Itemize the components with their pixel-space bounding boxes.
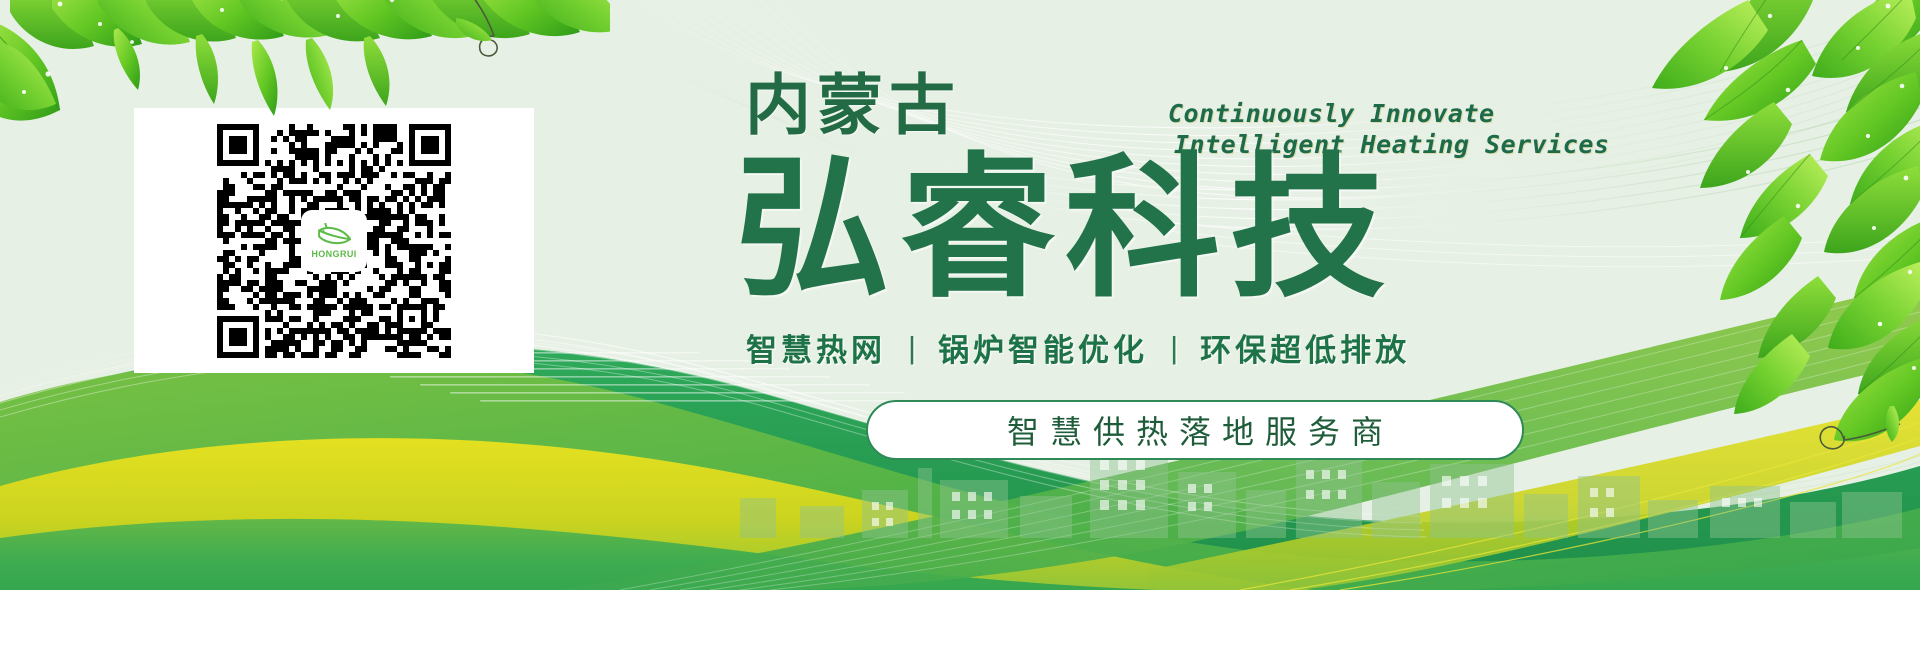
service-item-1: 智慧热网 xyxy=(746,325,886,370)
service-item-2: 锅炉智能优化 xyxy=(938,325,1148,370)
status-badge-label: 智慧供热落地服务商 xyxy=(996,407,1394,453)
logo-wordmark: HONGRUI xyxy=(311,250,356,259)
hongrui-logo: HONGRUI xyxy=(303,212,365,270)
service-separator-1: | xyxy=(908,330,920,366)
region-name: 内蒙古 xyxy=(745,72,961,138)
service-separator-2: | xyxy=(1170,330,1182,366)
company-banner: HONGRUI 内蒙古 Continuously Innovate Intell… xyxy=(0,0,1920,590)
page-footer-whitespace xyxy=(0,590,1920,659)
leaf-decoration-top-right xyxy=(1502,0,1920,476)
qr-code-image[interactable]: HONGRUI xyxy=(217,124,451,358)
leaf-decoration-top-left xyxy=(0,0,610,157)
service-item-3: 环保超低排放 xyxy=(1200,325,1410,370)
services-list: 智慧热网 | 锅炉智能优化 | 环保超低排放 xyxy=(746,325,1410,370)
leaf-bird-icon xyxy=(314,223,354,249)
company-name: 弘睿科技 xyxy=(735,148,1395,311)
status-badge: 智慧供热落地服务商 xyxy=(866,400,1524,460)
